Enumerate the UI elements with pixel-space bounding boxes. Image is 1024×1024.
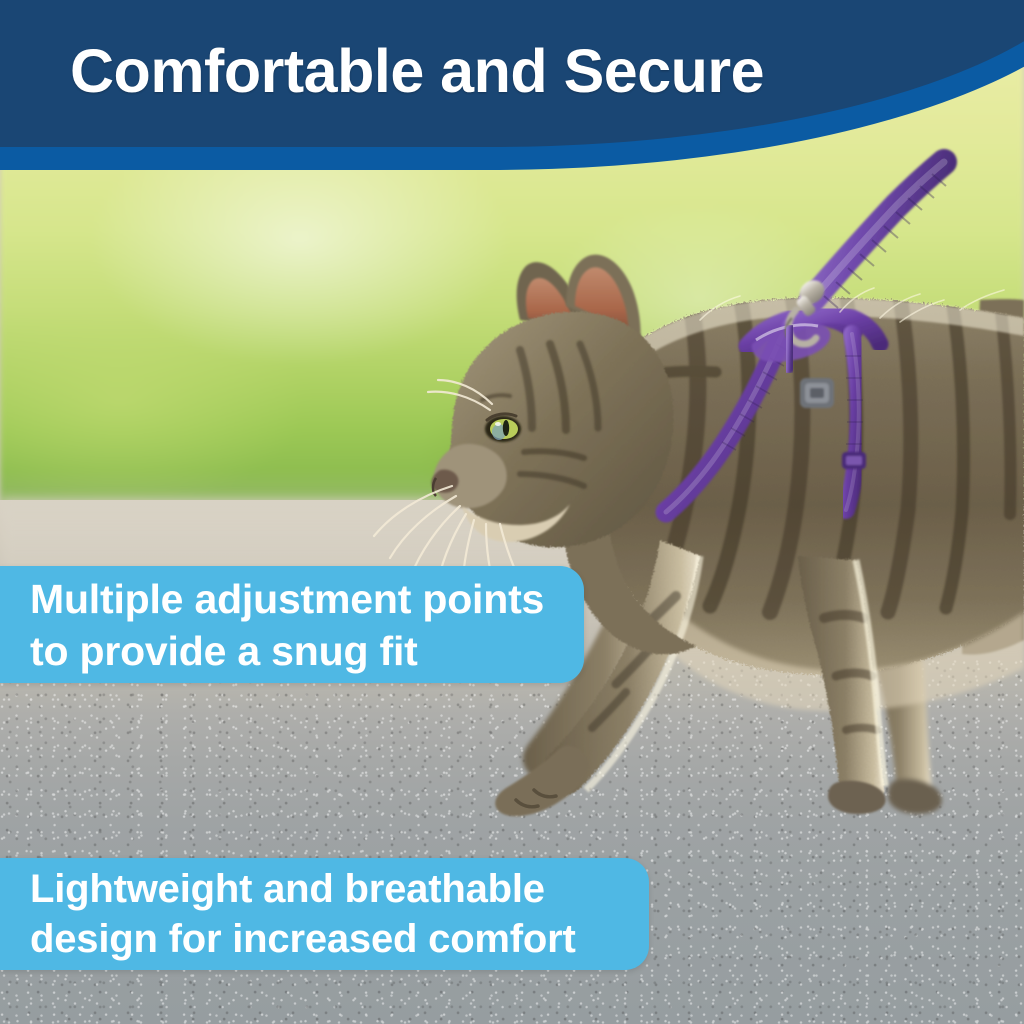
callout-lightweight-design: Lightweight and breathable design for in… <box>0 858 649 970</box>
callout-lightweight-line-1: Lightweight and breathable <box>30 864 649 914</box>
callout-adjustment-points: Multiple adjustment points to provide a … <box>0 566 584 683</box>
callout-adjustment-line-2: to provide a snug fit <box>30 625 584 677</box>
page-title: Comfortable and Secure <box>70 36 764 106</box>
callout-adjustment-line-1: Multiple adjustment points <box>30 573 584 625</box>
callout-lightweight-line-2: design for increased comfort <box>30 914 649 964</box>
product-feature-poster: Comfortable and Secure Multiple adjustme… <box>0 0 1024 1024</box>
